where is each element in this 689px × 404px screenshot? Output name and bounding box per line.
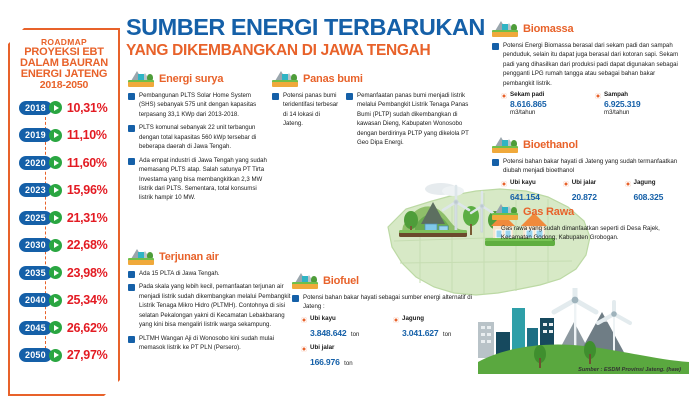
biofuel-item: Ubi jalar 166.976 ton: [301, 344, 379, 370]
bullet-item: Potensi bahan bakar hayati sebagai sumbe…: [292, 293, 482, 312]
sub-title: YANG DIKEMBANGKAN DI JAWA TENGAH: [126, 43, 486, 59]
main-title: SUMBER ENERGI TERBARUKAN: [126, 16, 486, 40]
section-title: Biofuel: [323, 275, 359, 287]
bullet-square-icon: [128, 271, 135, 278]
section-title: Energi surya: [159, 73, 223, 85]
bullet-item: Ada empat industri di Jawa Tengah yang s…: [128, 156, 268, 203]
bullet-item: Potensi bahan bakar hayati di Jateng yan…: [492, 157, 684, 176]
roadmap-title-years: 2018-2050: [14, 80, 114, 91]
play-arrow-icon: [49, 184, 62, 197]
item-value: 608.325: [634, 192, 664, 202]
bullet-text: Ada empat industri di Jawa Tengah yang s…: [139, 156, 268, 203]
mountain-bioethanol-icon: [492, 136, 518, 153]
bullet-text: PLTMH Wangan Aji di Wonosobo kini sudah …: [139, 334, 296, 353]
play-arrow-icon: [49, 321, 62, 334]
bioethanol-values-row: Ubi kayu 641.154 Ubi jalar 20.872 Jagung…: [492, 179, 684, 205]
section-header: Energi surya: [128, 70, 268, 87]
bullet-square-icon: [128, 125, 135, 132]
bullet-text: Potensi bahan bakar hayati di Jateng yan…: [503, 157, 684, 176]
roadmap-year: 2030: [19, 238, 52, 252]
item-label: Ubi jalar: [310, 344, 334, 351]
section-text: Gas rawa yang sudah dimanfaatkan seperti…: [501, 224, 684, 243]
biomassa-item: Sekam padi 8.616.865 m3/tahun: [501, 91, 581, 116]
roadmap-year: 2019: [19, 128, 52, 142]
bioethanol-item: Ubi kayu 641.154: [501, 179, 555, 205]
item-label: Jagung: [402, 315, 424, 322]
roadmap-row: 2045 26,62%: [14, 314, 114, 342]
section-biomassa: Biomassa Potensi Energi Biomassa berasal…: [492, 20, 684, 116]
roadmap-percent: 27,97%: [67, 348, 108, 362]
item-value: 3.041.627: [402, 328, 438, 338]
section-bioethanol: Bioethanol Potensi bahan bakar hayati di…: [492, 136, 684, 205]
bullet-square-icon: [292, 295, 299, 302]
city-windmill-illustration: [478, 288, 689, 374]
biofuel-values-row-2: Ubi jalar 166.976 ton: [292, 344, 482, 370]
source-note: Sumber : ESDM Provinsi Jateng. (haw): [578, 367, 681, 373]
roadmap-title: ROADMAP PROYEKSI EBT DALAM BAURAN ENERGI…: [14, 38, 114, 91]
roadmap-list: 2018 10,31% 2019 11,10% 2020 11,60% 2023…: [14, 94, 114, 369]
bullet-square-icon: [272, 93, 279, 100]
play-arrow-icon: [49, 156, 62, 169]
item-value: 8.616.865: [510, 99, 581, 109]
roadmap-percent: 23,98%: [67, 266, 108, 280]
roadmap-year: 2018: [19, 101, 52, 115]
roadmap-year: 2050: [19, 348, 52, 362]
item-value: 20.872: [572, 192, 597, 202]
panas-col-right: Pemanfaatan panas bumi menjadi listrik m…: [346, 87, 480, 148]
mountain-solar-icon: [128, 70, 154, 87]
roadmap-row: 2030 22,68%: [14, 232, 114, 260]
item-label: Jagung: [634, 179, 656, 186]
section-terjunan-air: Terjunan air Ada 15 PLTA di Jawa Tengah.…: [128, 248, 296, 353]
mountain-biomass-icon: [492, 20, 518, 37]
waterfall-icon: [128, 248, 154, 265]
bioethanol-item: Ubi jalar 20.872: [563, 179, 617, 205]
play-arrow-icon: [49, 239, 62, 252]
roadmap-row: 2023 15,96%: [14, 177, 114, 205]
bullet-square-icon: [128, 93, 135, 100]
play-arrow-icon: [49, 349, 62, 362]
bullet-text: Potensi Energi Biomassa berasal dari sek…: [503, 41, 684, 88]
section-title: Panas bumi: [303, 73, 363, 85]
biofuel-item: Jagung 3.041.627 ton: [393, 315, 471, 341]
section-energi-surya: Energi surya Pembangunan PLTS Solar Home…: [128, 70, 268, 203]
mountain-biofuel-icon: [292, 272, 318, 289]
circle-dot-icon: [501, 181, 507, 187]
roadmap-percent: 10,31%: [67, 101, 108, 115]
circle-dot-icon: [301, 346, 307, 352]
roadmap-year: 2025: [19, 211, 52, 225]
mountain-geothermal-icon: [272, 70, 298, 87]
item-unit: m3/tahun: [510, 109, 581, 116]
bullet-square-icon: [492, 43, 499, 50]
bullet-text: PLTS komunal sebanyak 22 unit terbangun …: [139, 123, 268, 151]
roadmap-row: 2025 21,31%: [14, 204, 114, 232]
play-arrow-icon: [49, 211, 62, 224]
infographic-page: ROADMAP PROYEKSI EBT DALAM BAURAN ENERGI…: [0, 0, 689, 404]
mountain-gas-icon: [492, 203, 518, 220]
page-title: SUMBER ENERGI TERBARUKAN YANG DIKEMBANGK…: [126, 16, 486, 58]
bullet-text: Pemanfaatan panas bumi menjadi listrik m…: [357, 91, 480, 148]
item-unit: m3/tahun: [604, 109, 675, 116]
play-arrow-icon: [49, 266, 62, 279]
biofuel-values-row-1: Ubi kayu 3.848.642 ton Jagung 3.041.627 …: [292, 315, 482, 341]
bullet-square-icon: [128, 284, 135, 291]
play-arrow-icon: [49, 129, 62, 142]
bullet-item: PLTMH Wangan Aji di Wonosobo kini sudah …: [128, 334, 296, 353]
item-unit: ton: [443, 331, 451, 338]
section-title: Terjunan air: [159, 251, 219, 263]
roadmap-row: 2050 27,97%: [14, 342, 114, 370]
bullet-item: Pemanfaatan panas bumi menjadi listrik m…: [346, 91, 480, 148]
bullet-item: Pada skala yang lebih kecil, pemanfaatan…: [128, 282, 296, 329]
section-gas-rawa: Gas Rawa Gas rawa yang sudah dimanfaatka…: [492, 203, 684, 243]
roadmap-year: 2020: [19, 156, 52, 170]
circle-dot-icon: [563, 181, 569, 187]
roadmap-year: 2045: [19, 321, 52, 335]
bullet-text: Potensi bahan bakar hayati sebagai sumbe…: [303, 293, 482, 312]
bioethanol-item: Jagung 608.325: [625, 179, 685, 205]
section-header: Biofuel: [292, 272, 482, 289]
roadmap-percent: 22,68%: [67, 238, 108, 252]
roadmap-panel: ROADMAP PROYEKSI EBT DALAM BAURAN ENERGI…: [8, 28, 120, 396]
biofuel-item: Ubi kayu 3.848.642 ton: [301, 315, 379, 341]
item-value: 3.848.642: [310, 328, 346, 338]
bullet-item: PLTS komunal sebanyak 22 unit terbangun …: [128, 123, 268, 151]
roadmap-percent: 11,10%: [67, 128, 107, 142]
roadmap-row: 2019 11,10%: [14, 122, 114, 150]
biomassa-item: Sampah 6.925.319 m3/tahun: [595, 91, 675, 116]
bullet-text: Pada skala yang lebih kecil, pemanfaatan…: [139, 282, 296, 329]
roadmap-row: 2040 25,34%: [14, 287, 114, 315]
section-header: Terjunan air: [128, 248, 296, 265]
biomassa-values-row: Sekam padi 8.616.865 m3/tahun Sampah 6.9…: [492, 91, 684, 116]
item-unit: ton: [344, 360, 352, 367]
circle-dot-icon: [625, 181, 631, 187]
roadmap-year: 2035: [19, 266, 52, 280]
section-biofuel: Biofuel Potensi bahan bakar hayati sebag…: [292, 272, 482, 370]
roadmap-percent: 11,60%: [67, 156, 107, 170]
bullet-square-icon: [128, 158, 135, 165]
roadmap-year: 2023: [19, 183, 52, 197]
roadmap-row: 2035 23,98%: [14, 259, 114, 287]
bullet-text: Potensi panas bumi teridentifasi terbesa…: [283, 91, 340, 129]
section-title: Gas Rawa: [523, 206, 574, 218]
bullet-item: Pembangunan PLTS Solar Home System (SHS)…: [128, 91, 268, 119]
item-label: Ubi kayu: [310, 315, 336, 322]
play-arrow-icon: [49, 294, 62, 307]
circle-dot-icon: [301, 317, 307, 323]
section-header: Bioethanol: [492, 136, 684, 153]
section-panas-bumi: Panas bumi Potensi panas bumi teridentif…: [272, 70, 480, 148]
bullet-item: Ada 15 PLTA di Jawa Tengah.: [128, 269, 296, 278]
item-value: 6.925.319: [604, 99, 675, 109]
roadmap-percent: 25,34%: [67, 293, 108, 307]
section-header: Panas bumi: [272, 70, 480, 87]
bullet-item: Potensi Energi Biomassa berasal dari sek…: [492, 41, 684, 88]
item-label: Ubi jalar: [572, 179, 596, 186]
bullet-text: Pembangunan PLTS Solar Home System (SHS)…: [139, 91, 268, 119]
section-title: Biomassa: [523, 23, 573, 35]
bullet-item: Potensi panas bumi teridentifasi terbesa…: [272, 91, 340, 129]
section-title: Bioethanol: [523, 139, 578, 151]
roadmap-year: 2040: [19, 293, 52, 307]
bullet-square-icon: [492, 159, 499, 166]
gas-rawa-text-block: Gas rawa yang sudah dimanfaatkan seperti…: [492, 224, 684, 243]
roadmap-row: 2020 11,60%: [14, 149, 114, 177]
bullet-square-icon: [346, 93, 353, 100]
roadmap-row: 2018 10,31%: [14, 94, 114, 122]
item-label: Ubi kayu: [510, 179, 536, 186]
circle-dot-icon: [393, 317, 399, 323]
item-unit: ton: [351, 331, 359, 338]
item-label: Sampah: [604, 91, 628, 98]
roadmap-percent: 21,31%: [67, 211, 108, 225]
roadmap-percent: 15,96%: [67, 183, 108, 197]
item-value: 166.976: [310, 357, 340, 367]
bullet-text: Ada 15 PLTA di Jawa Tengah.: [139, 269, 220, 278]
play-arrow-icon: [49, 101, 62, 114]
section-header: Gas Rawa: [492, 203, 684, 220]
panas-col-left: Potensi panas bumi teridentifasi terbesa…: [272, 87, 340, 148]
item-label: Sekam padi: [510, 91, 544, 98]
roadmap-percent: 26,62%: [67, 321, 108, 335]
item-value: 641.154: [510, 192, 540, 202]
bullet-square-icon: [128, 336, 135, 343]
section-header: Biomassa: [492, 20, 684, 37]
